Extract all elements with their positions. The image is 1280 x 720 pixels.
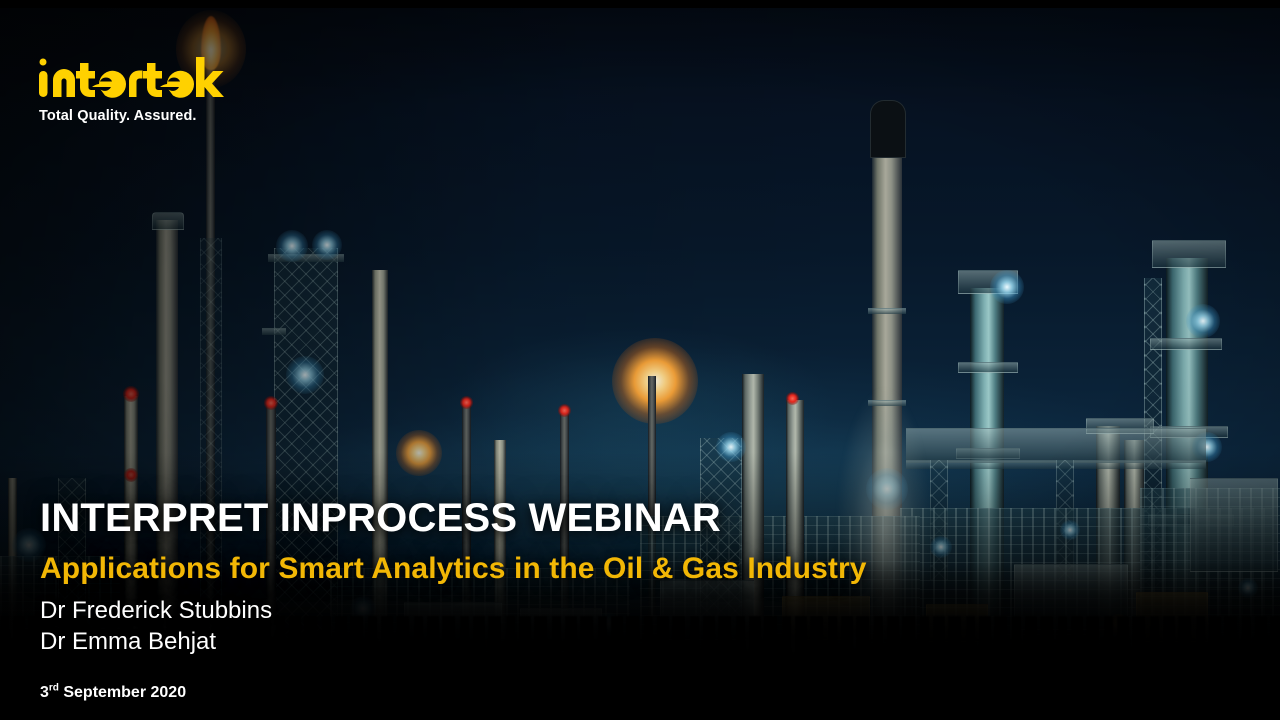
- title-text-block: INTERPRET INPROCESS WEBINAR Applications…: [40, 497, 1040, 702]
- slide-date: 3rd September 2020: [40, 684, 1040, 702]
- presenter-name: Dr Emma Behjat: [40, 626, 1040, 658]
- title-slide: Total Quality. Assured. INTERPRET INPROC…: [0, 0, 1280, 720]
- slide-date-rest: September 2020: [59, 684, 186, 701]
- logo-tagline: Total Quality. Assured.: [39, 108, 296, 124]
- slide-date-day: 3: [40, 684, 49, 701]
- intertek-wordmark-icon: [36, 52, 236, 102]
- presenter-name: Dr Frederick Stubbins: [40, 595, 1040, 627]
- slide-date-ordinal: rd: [49, 683, 59, 694]
- slide-subtitle: Applications for Smart Analytics in the …: [40, 552, 1040, 585]
- letterbox-bar-top: [0, 0, 1280, 8]
- intertek-logo: Total Quality. Assured.: [36, 52, 296, 124]
- letterbox-bar-bottom: [0, 714, 1280, 720]
- slide-title: INTERPRET INPROCESS WEBINAR: [40, 497, 1040, 540]
